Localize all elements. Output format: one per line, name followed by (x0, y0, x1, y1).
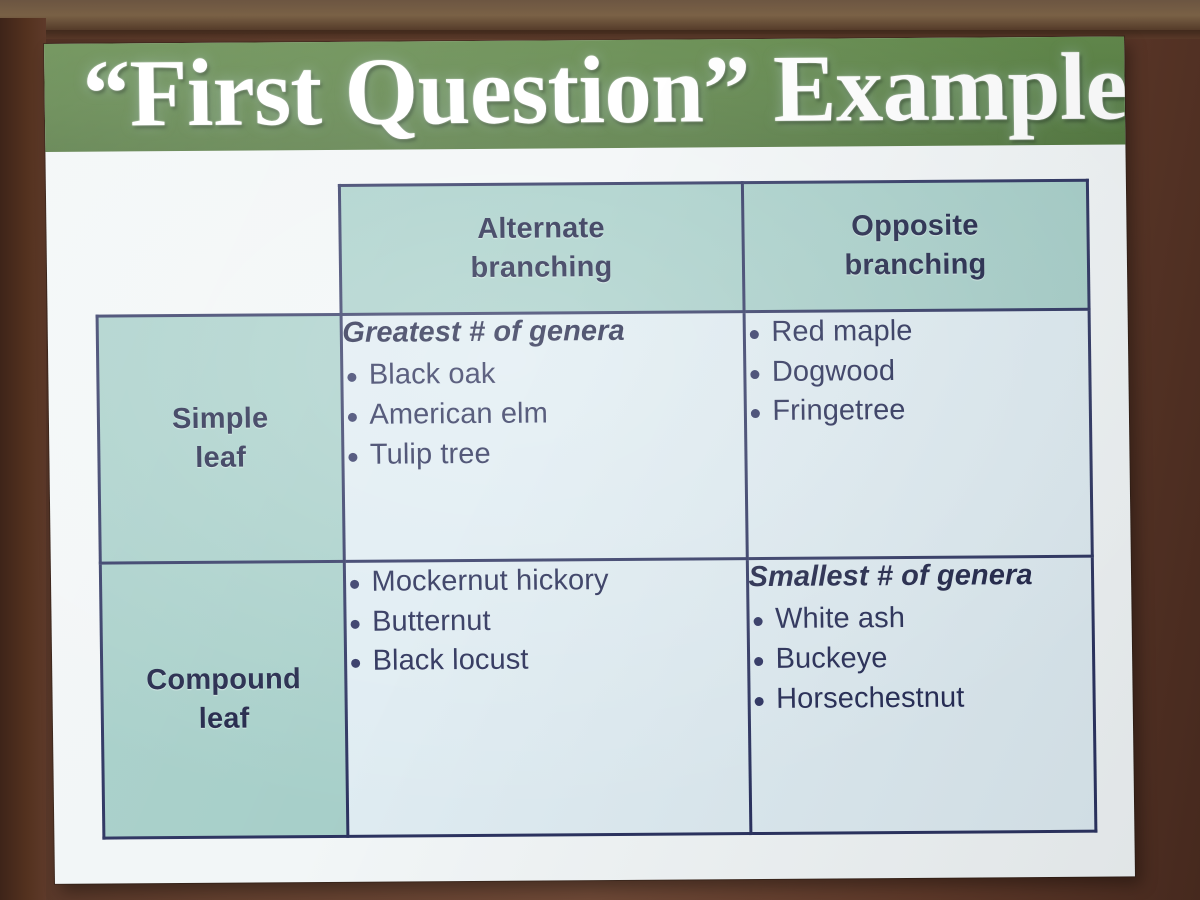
list-compound-alternate: Mockernut hickory Butternut Black locust (345, 560, 747, 682)
wall-left-column (0, 18, 46, 900)
row-header-simple-leaf: Simple leaf (97, 314, 344, 563)
row-header-simple-leaf-line1: Simple (172, 403, 269, 436)
column-header-alternate-branching: Alternate branching (339, 183, 744, 315)
row-header-compound-leaf-line1: Compound (146, 663, 301, 696)
list-item: Buckeye (749, 638, 1092, 680)
cell-compound-alternate: Mockernut hickory Butternut Black locust (344, 559, 751, 837)
table-header-row: Alternate branching Opposite branching (95, 180, 1088, 316)
table-row-simple-leaf: Simple leaf Greatest # of genera Black o… (97, 309, 1092, 563)
list-item: Tulip tree (344, 433, 745, 476)
list-item: Mockernut hickory (345, 560, 746, 603)
presentation-slide: “First Question” Examples Alternate bran… (44, 36, 1135, 883)
column-header-opposite-branching: Opposite branching (742, 180, 1089, 311)
list-item: Horsechestnut (750, 677, 1093, 719)
cell-heading-greatest-genera: Greatest # of genera (342, 313, 742, 350)
row-header-compound-leaf: Compound leaf (100, 561, 347, 838)
examples-table: Alternate branching Opposite branching S… (94, 179, 1097, 840)
photo-of-projected-slide: “First Question” Examples Alternate bran… (0, 0, 1200, 900)
cell-simple-alternate: Greatest # of genera Black oak American … (341, 312, 747, 562)
slide-title-bar: “First Question” Examples (44, 36, 1125, 152)
list-item: Fringetree (746, 390, 1089, 432)
wall-ceiling-trim (0, 0, 1200, 34)
list-item: Dogwood (746, 350, 1089, 392)
cell-simple-opposite: Red maple Dogwood Fringetree (744, 309, 1092, 558)
list-compound-opposite: White ash Buckeye Horsechestnut (749, 598, 1093, 720)
cell-compound-opposite: Smallest # of genera White ash Buckeye H… (747, 556, 1096, 833)
column-header-alternate-line1: Alternate (477, 212, 605, 245)
list-simple-opposite: Red maple Dogwood Fringetree (745, 311, 1089, 433)
slide-title: “First Question” Examples (82, 36, 1125, 148)
list-simple-alternate: Black oak American elm Tulip tree (343, 353, 745, 475)
column-header-alternate-line2: branching (470, 251, 612, 284)
list-item: White ash (749, 598, 1092, 640)
table-corner-cell (95, 185, 340, 316)
list-item: Black locust (346, 640, 747, 683)
table-row-compound-leaf: Compound leaf Mockernut hickory Butternu… (100, 556, 1095, 838)
column-header-opposite-line2: branching (844, 248, 986, 281)
list-item: Butternut (346, 600, 747, 643)
column-header-opposite-line1: Opposite (851, 209, 979, 242)
list-item: Black oak (343, 353, 744, 396)
row-header-compound-leaf-line2: leaf (198, 703, 249, 735)
cell-heading-smallest-genera: Smallest # of genera (748, 558, 1090, 595)
list-item: American elm (343, 393, 744, 436)
row-header-simple-leaf-line2: leaf (195, 442, 246, 474)
list-item: Red maple (745, 311, 1088, 353)
